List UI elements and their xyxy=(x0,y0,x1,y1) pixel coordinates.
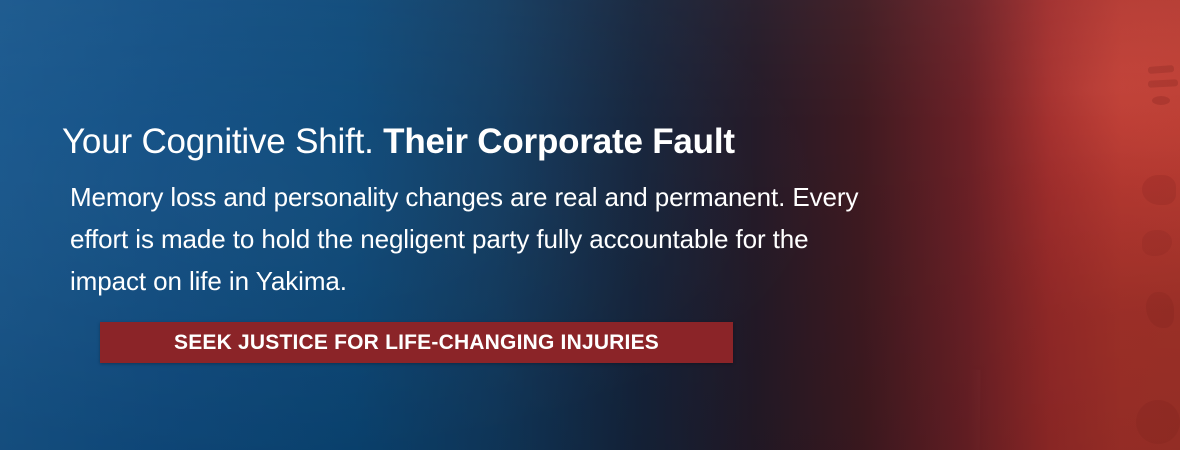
headline-light-text: Your Cognitive Shift. xyxy=(62,122,383,161)
promo-banner: Your Cognitive Shift. Their Corporate Fa… xyxy=(0,0,1180,450)
banner-headline: Your Cognitive Shift. Their Corporate Fa… xyxy=(62,121,735,163)
banner-subcopy: Memory loss and personality changes are … xyxy=(70,176,860,302)
headline-bold-text: Their Corporate Fault xyxy=(383,122,735,161)
seek-justice-cta-button[interactable]: Seek Justice for Life-Changing Injuries xyxy=(100,322,733,363)
banner-content: Your Cognitive Shift. Their Corporate Fa… xyxy=(62,0,862,450)
